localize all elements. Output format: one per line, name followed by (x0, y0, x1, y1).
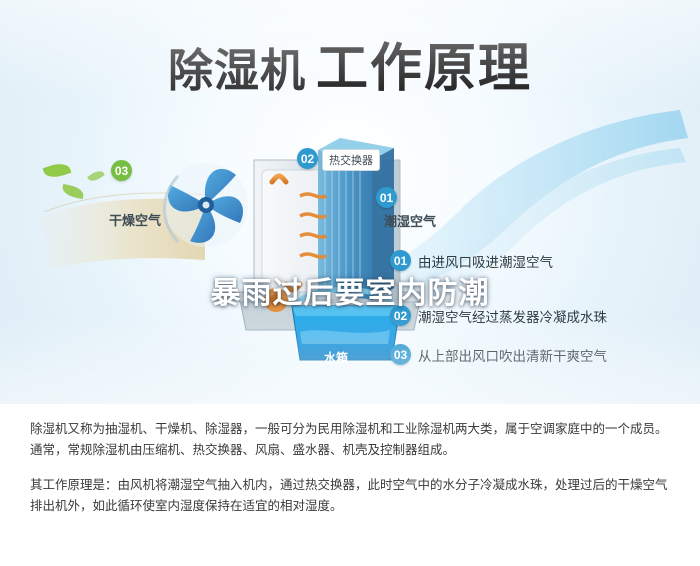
page-root: 除湿机工作原理 03 干燥空气 02 热交换器 01 潮湿空气 水箱 01 由进… (0, 0, 700, 566)
diagram-illustration-panel: 除湿机工作原理 03 干燥空气 02 热交换器 01 潮湿空气 水箱 01 由进… (0, 0, 700, 404)
badge-02-heat-exchanger: 02 (297, 148, 318, 169)
badge-03-dry-air: 03 (111, 160, 132, 181)
description-paragraph-1: 除湿机又称为抽湿机、干燥机、除湿器，一般可分为民用除湿机和工业除湿机两大类，属于… (30, 418, 670, 460)
description-paragraph-2: 其工作原理是：由风机将潮湿空气抽入机内，通过热交换器，此时空气中的水分子冷凝成水… (30, 474, 670, 516)
description-block: 除湿机又称为抽湿机、干燥机、除湿器，一般可分为民用除湿机和工业除湿机两大类，属于… (30, 418, 670, 516)
label-water-tank: 水箱 (324, 349, 348, 366)
label-humid-air: 潮湿空气 (384, 211, 436, 230)
page-title: 除湿机工作原理 (0, 26, 700, 101)
title-part2: 工作原理 (316, 39, 532, 99)
chip-heat-exchanger: 热交换器 (322, 149, 380, 171)
overlay-banner-text: 暴雨过后要室内防潮 (0, 268, 700, 312)
badge-01-humid-air: 01 (376, 187, 397, 208)
badge-step-03: 03 (390, 344, 411, 365)
title-part1: 除湿机 (168, 44, 306, 97)
label-dry-air: 干燥空气 (109, 210, 161, 229)
step-text-03: 从上部出风口吹出清新干爽空气 (418, 345, 607, 365)
